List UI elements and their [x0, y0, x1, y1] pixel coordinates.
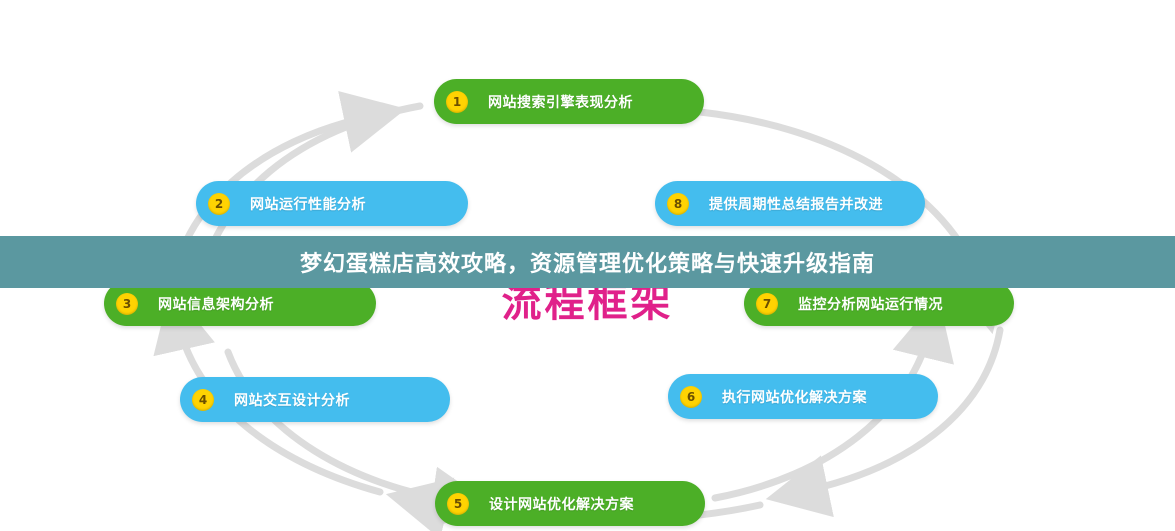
flow-node-4-label: 网站交互设计分析 — [234, 390, 350, 410]
flow-node-8-label: 提供周期性总结报告并改进 — [709, 194, 883, 214]
flow-node-6-number: 6 — [680, 386, 702, 408]
diagram-canvas: 流程框架 1 网站搜索引擎表现分析 2 网站运行性能分析 8 提供周期性总结报告… — [0, 0, 1175, 531]
flow-node-2-number: 2 — [208, 193, 230, 215]
flow-node-2[interactable]: 2 网站运行性能分析 — [196, 181, 468, 226]
flow-node-1-label: 网站搜索引擎表现分析 — [488, 92, 633, 112]
flow-node-4-number: 4 — [192, 389, 214, 411]
flow-node-5-label: 设计网站优化解决方案 — [489, 494, 634, 514]
flow-node-1[interactable]: 1 网站搜索引擎表现分析 — [434, 79, 704, 124]
overlay-title-text: 梦幻蛋糕店高效攻略，资源管理优化策略与快速升级指南 — [300, 246, 875, 278]
flow-node-6-label: 执行网站优化解决方案 — [722, 387, 867, 407]
flow-node-7-number: 7 — [756, 293, 778, 315]
flow-node-7-label: 监控分析网站运行情况 — [798, 294, 943, 314]
overlay-title-banner: 梦幻蛋糕店高效攻略，资源管理优化策略与快速升级指南 — [0, 236, 1175, 288]
flow-node-8[interactable]: 8 提供周期性总结报告并改进 — [655, 181, 925, 226]
flow-node-5[interactable]: 5 设计网站优化解决方案 — [435, 481, 705, 526]
flow-node-3-label: 网站信息架构分析 — [158, 294, 274, 314]
flow-node-2-label: 网站运行性能分析 — [250, 194, 366, 214]
flow-node-4[interactable]: 4 网站交互设计分析 — [180, 377, 450, 422]
flow-node-1-number: 1 — [446, 91, 468, 113]
arrow-3-to-2 — [228, 352, 460, 502]
flow-node-6[interactable]: 6 执行网站优化解决方案 — [668, 374, 938, 419]
flow-node-8-number: 8 — [667, 193, 689, 215]
flow-node-5-number: 5 — [447, 493, 469, 515]
flow-node-3-number: 3 — [116, 293, 138, 315]
